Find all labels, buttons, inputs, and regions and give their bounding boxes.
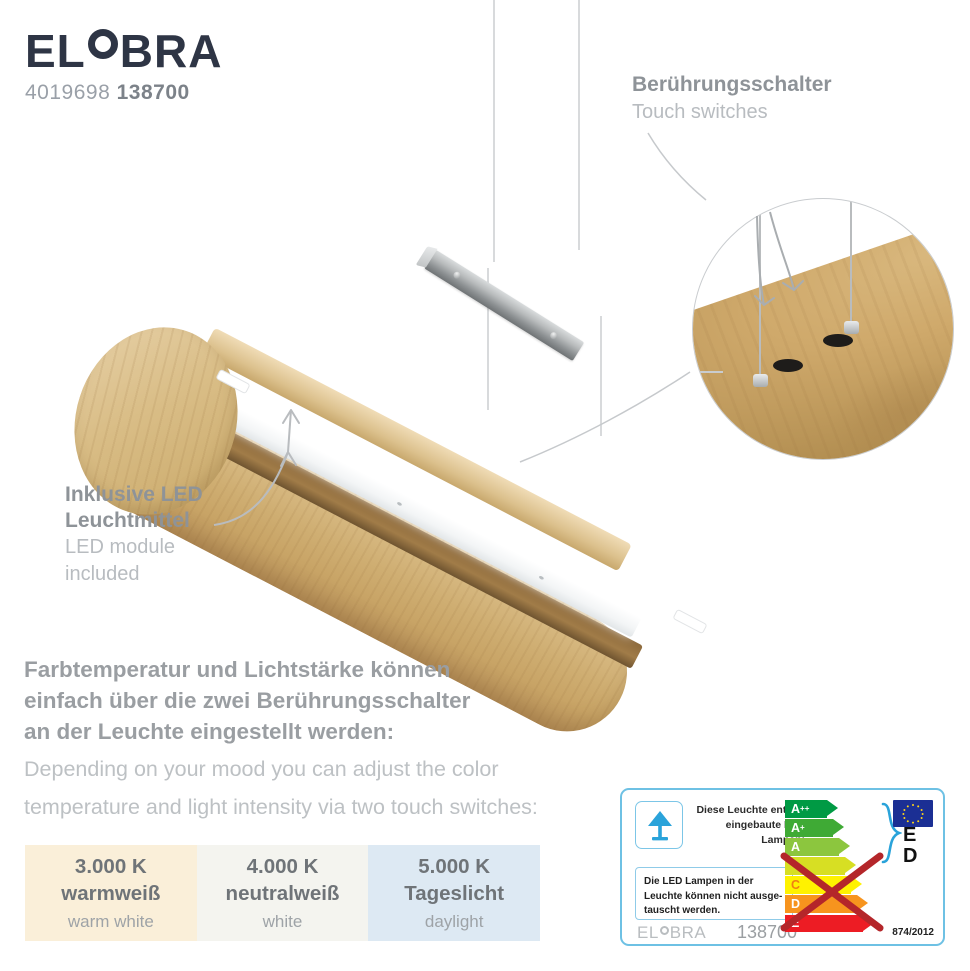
table-lamp-icon-box xyxy=(635,801,683,849)
paragraph-en-line1: Depending on your mood you can adjust th… xyxy=(24,755,544,784)
led-letter-e: E xyxy=(903,825,917,846)
callout-led-subtitle-line1: LED module xyxy=(65,535,203,559)
energy-class-sup: + xyxy=(800,823,805,832)
canopy-end-cap xyxy=(416,246,438,267)
wood-grain-knot xyxy=(816,342,954,460)
energy-class-letter: A xyxy=(791,802,800,816)
energy-brand-left: EL xyxy=(637,923,659,943)
led-diffuser-strip xyxy=(188,387,642,637)
paragraph-en-line2: temperature and light intensity via two … xyxy=(24,793,544,822)
lamp-body xyxy=(88,286,688,646)
article-number: 138700 xyxy=(117,81,190,104)
wood-inner-channel xyxy=(177,409,643,668)
energy-label-regulation: 874/2012 xyxy=(892,927,934,938)
table-lamp-icon xyxy=(645,809,675,842)
canopy-screw-left xyxy=(452,270,462,280)
product-infographic: EL BRA 4019698 138700 xyxy=(0,0,970,971)
callout-led-subtitle-line2: included xyxy=(65,562,203,586)
suspension-cable-left xyxy=(493,0,495,262)
brand-logo-o-ring-icon xyxy=(88,29,118,59)
color-temperature-bar: 3.000 K warmweiß warm white 4.000 K neut… xyxy=(25,845,540,941)
kelvin-name-en-warm: warm white xyxy=(68,912,154,932)
kelvin-name-en-daylight: daylight xyxy=(425,912,484,932)
ean-number: 4019698 xyxy=(25,81,110,104)
energy-class-sup: ++ xyxy=(800,804,809,813)
mount-tab-left xyxy=(215,369,250,394)
ceiling-canopy xyxy=(424,250,584,361)
kelvin-name-en-neutral: white xyxy=(263,912,303,932)
kelvin-name-de-neutral: neutralweiß xyxy=(226,881,340,908)
magnifier-leader-stub xyxy=(692,371,723,373)
crossed-out-icon xyxy=(780,850,884,934)
kelvin-name-de-daylight: Tageslicht xyxy=(404,881,504,908)
brand-logo-wordmark: EL BRA xyxy=(25,28,222,74)
paragraph-de-line1: Farbtemperatur und Lichtstärke können xyxy=(24,655,544,686)
brand-logo-text-right: BRA xyxy=(120,28,223,74)
callout-led-title-line1: Inklusive LED xyxy=(65,482,203,508)
energy-brand-right: BRA xyxy=(670,923,706,943)
brand-logo-text-left: EL xyxy=(25,28,86,74)
magnified-cable-left xyxy=(759,199,761,377)
energy-label-note: Die LED Lampen in der Leuchte können nic… xyxy=(635,867,793,920)
brand-logo: EL BRA 4019698 138700 xyxy=(25,28,222,105)
touch-switch-dot-right xyxy=(823,334,853,347)
energy-note-line2: Leuchte können nicht ausge- xyxy=(644,890,786,905)
color-temperature-segment-neutral: 4.000 K neutralweiß white xyxy=(197,845,369,941)
callout-led-module: Inklusive LED Leuchtmittel LED module in… xyxy=(65,482,203,586)
kelvin-value-neutral: 4.000 K xyxy=(247,854,319,881)
wood-top-edge xyxy=(201,328,632,572)
magnified-wood-surface xyxy=(692,198,954,460)
diffuser-screw-3 xyxy=(538,575,544,580)
product-code-line: 4019698 138700 xyxy=(25,81,222,105)
diffuser-screw-2 xyxy=(397,501,403,506)
energy-note-line3: tauscht werden. xyxy=(644,904,786,919)
lamp-cable-right xyxy=(600,316,602,436)
callout-touch-title: Berührungsschalter xyxy=(632,72,832,98)
led-letter-d: D xyxy=(903,846,917,867)
color-temperature-segment-warm: 3.000 K warmweiß warm white xyxy=(25,845,197,941)
magnified-detail-circle xyxy=(692,198,954,460)
cable-nut-left xyxy=(753,374,768,387)
magnified-cable-right xyxy=(850,199,852,325)
kelvin-name-de-warm: warmweiß xyxy=(61,881,160,908)
paragraph-de-line2: einfach über die zwei Berührungsschalter xyxy=(24,686,544,717)
eu-flag-icon xyxy=(893,800,933,827)
eu-energy-label: Diese Leuchte enthält eingebaute LED Lam… xyxy=(620,788,945,946)
energy-brand-o-ring-icon xyxy=(660,926,669,935)
diffuser-screw-1 xyxy=(228,414,234,419)
suspension-cable-right xyxy=(578,0,580,250)
touch-switch-dot-left xyxy=(773,359,803,372)
lamp-cable-left xyxy=(487,268,489,410)
kelvin-value-warm: 3.000 K xyxy=(75,854,147,881)
energy-class-row: A++ xyxy=(785,800,827,818)
mount-tab-right xyxy=(672,609,707,634)
color-temperature-segment-daylight: 5.000 K Tageslicht daylight xyxy=(368,845,540,941)
callout-touch-switches: Berührungsschalter Touch switches xyxy=(632,72,832,124)
energy-class-letter: A xyxy=(791,821,800,835)
callout-led-title-line2: Leuchtmittel xyxy=(65,508,203,534)
callout-touch-subtitle: Touch switches xyxy=(632,100,832,124)
energy-note-line1: Die LED Lampen in der xyxy=(644,875,786,890)
paragraph-de-line3: an der Leuchte eingestellt werden: xyxy=(24,717,544,748)
energy-class-row: A+ xyxy=(785,819,833,837)
kelvin-value-daylight: 5.000 K xyxy=(418,854,490,881)
cable-nut-right xyxy=(844,321,859,334)
energy-label-brand: EL BRA xyxy=(637,923,706,943)
canopy-screw-right xyxy=(549,331,559,341)
description-paragraph: Farbtemperatur und Lichtstärke können ei… xyxy=(24,655,544,822)
